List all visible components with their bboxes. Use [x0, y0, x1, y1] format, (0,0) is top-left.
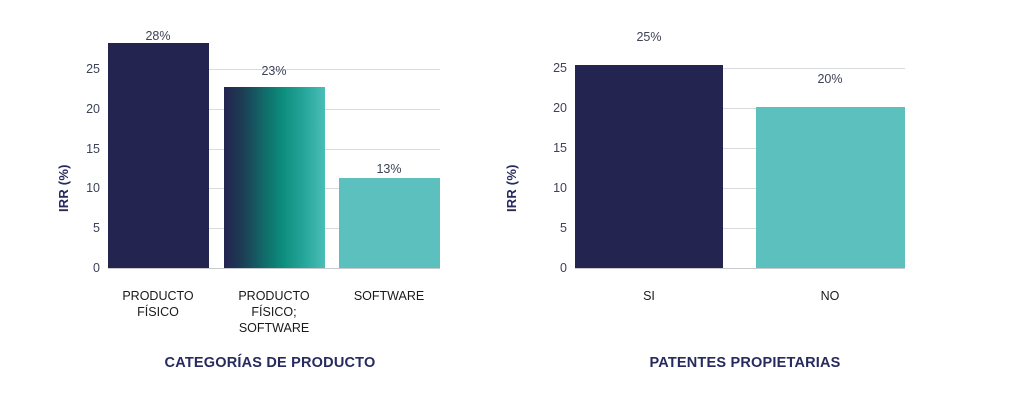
category-sublabel-no-clipped: ··· — [810, 305, 850, 309]
chart-title-right: PATENTES PROPIETARIAS — [649, 355, 840, 371]
y-ticks-right: 0 5 10 15 20 25 — [527, 55, 567, 268]
y-axis-title-right: IRR (%) — [504, 164, 519, 212]
y-tick-5: 5 — [560, 221, 567, 235]
bar-no[interactable] — [756, 107, 905, 268]
y-tick-15: 15 — [553, 141, 567, 155]
y-tick-15: 15 — [86, 142, 100, 156]
y-tick-5: 5 — [93, 221, 100, 235]
x-axis-baseline-left — [108, 268, 440, 269]
y-tick-25: 25 — [86, 62, 100, 76]
y-tick-10: 10 — [553, 181, 567, 195]
category-label-software: SOFTWARE — [354, 288, 424, 304]
y-tick-20: 20 — [86, 102, 100, 116]
bar-si[interactable] — [575, 65, 723, 268]
value-label-si: 25% — [636, 30, 661, 44]
y-tick-25: 25 — [553, 61, 567, 75]
value-label-software: 13% — [376, 162, 401, 176]
chart-panel-categorias: IRR (%) 0 5 10 15 20 — [0, 0, 480, 414]
plot-area-right — [575, 55, 905, 268]
y-tick-10: 10 — [86, 181, 100, 195]
category-label-producto-fisico-software: PRODUCTO FÍSICO; SOFTWARE — [238, 288, 309, 336]
bar-producto-fisico-software[interactable] — [224, 87, 325, 268]
charts-figure: IRR (%) 0 5 10 15 20 — [0, 0, 1022, 414]
category-sublabel-si-clipped: ··· — [629, 305, 669, 309]
value-label-producto-fisico-software: 23% — [261, 64, 286, 78]
chart-title-left: CATEGORÍAS DE PRODUCTO — [165, 355, 376, 371]
category-label-producto-fisico: PRODUCTO FÍSICO — [122, 288, 193, 320]
bar-producto-fisico[interactable] — [108, 43, 209, 268]
category-label-no: NO — [821, 288, 840, 304]
y-tick-0: 0 — [560, 261, 567, 275]
value-label-producto-fisico: 28% — [145, 29, 170, 43]
category-label-si: SI — [643, 288, 655, 304]
x-axis-baseline-right — [575, 268, 905, 269]
value-label-no: 20% — [817, 72, 842, 86]
y-tick-20: 20 — [553, 101, 567, 115]
y-tick-0: 0 — [93, 261, 100, 275]
bars-right — [575, 55, 905, 268]
chart-panel-patentes: IRR (%) 0 5 10 15 20 25 — [480, 0, 1022, 414]
bar-software[interactable] — [339, 178, 440, 268]
y-ticks-left: 0 5 10 15 20 25 — [60, 33, 100, 268]
